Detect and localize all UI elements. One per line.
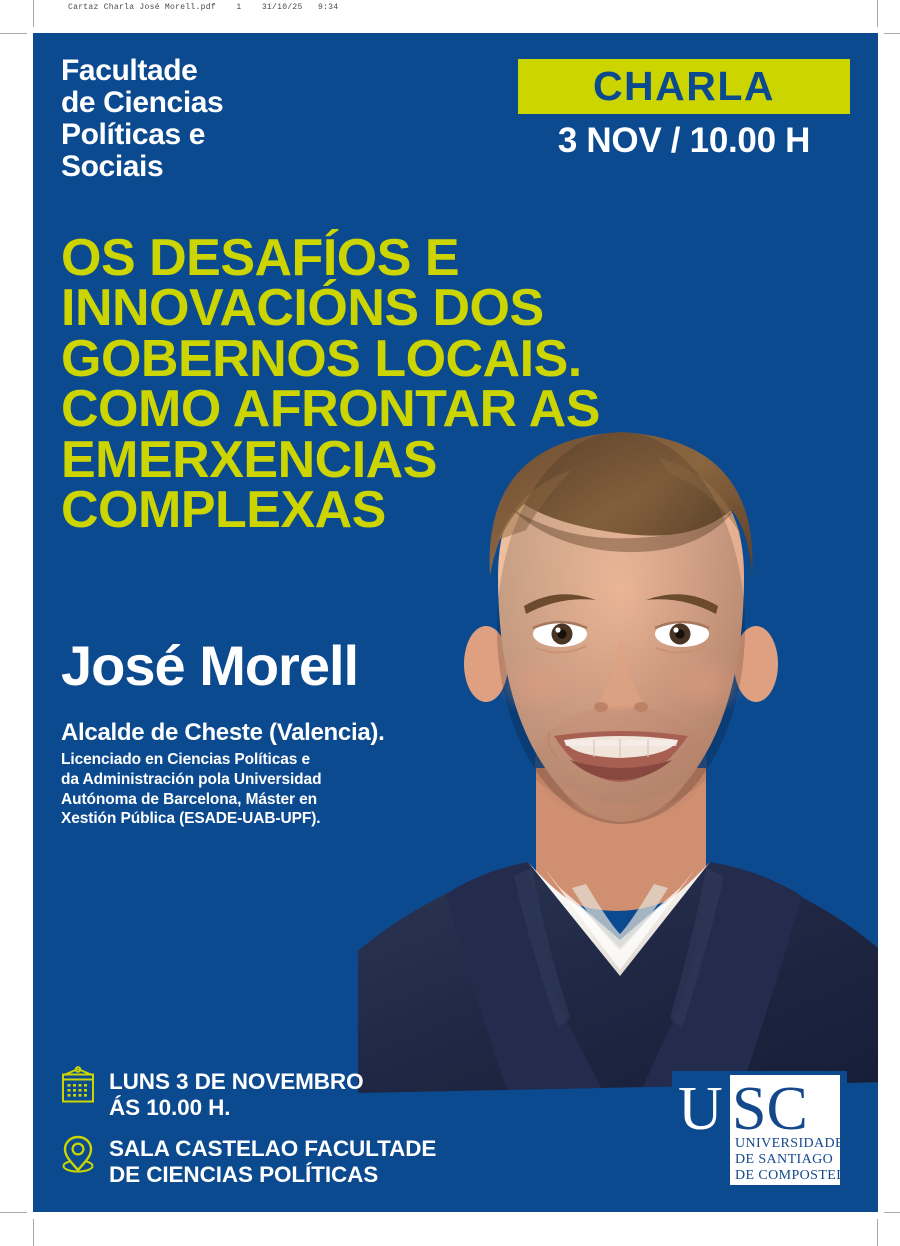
pdf-page: Cartaz Charla José Morell.pdf 1 31/10/25…: [0, 0, 900, 1246]
usc-logo: U SC UNIVERSIDADE DE SANTIAGO DE COMPOST…: [672, 1071, 847, 1189]
calendar-icon: [59, 1066, 97, 1108]
crop-mark-top-left-vertical: [33, 0, 34, 27]
pdf-filename-header: Cartaz Charla José Morell.pdf 1 31/10/25…: [68, 3, 338, 12]
charla-badge-label: CHARLA: [593, 63, 775, 110]
usc-wordmark-line1: UNIVERSIDADE: [735, 1136, 844, 1151]
event-place-block: SALA CASTELAO FACULTADE DE CIENCIAS POLÍ…: [59, 1133, 436, 1188]
poster-artboard: Facultade de Ciencias Políticas e Sociai…: [33, 33, 878, 1212]
usc-letter-sc: SC: [732, 1075, 808, 1143]
crop-mark-top-right-vertical: [877, 0, 878, 27]
charla-date: 3 NOV / 10.00 H: [518, 121, 850, 161]
crop-mark-bottom-left-horizontal: [0, 1212, 27, 1213]
usc-letter-u: U: [678, 1075, 723, 1143]
charla-badge: CHARLA: [518, 59, 850, 114]
crop-mark-bottom-right-horizontal: [884, 1212, 900, 1213]
speaker-role: Alcalde de Cheste (Valencia).: [61, 720, 384, 746]
map-pin-icon: [59, 1133, 97, 1175]
faculty-name: Facultade de Ciencias Políticas e Sociai…: [61, 55, 223, 183]
crop-mark-bottom-right-vertical: [877, 1219, 878, 1246]
usc-wordmark-line2: DE SANTIAGO: [735, 1152, 833, 1167]
speaker-name: José Morell: [61, 638, 358, 694]
crop-mark-bottom-left-vertical: [33, 1219, 34, 1246]
poster-headline: OS DESAFÍOS E INNOVACIÓNS DOS GOBERNOS L…: [61, 233, 821, 536]
event-place-text: SALA CASTELAO FACULTADE DE CIENCIAS POLÍ…: [109, 1133, 436, 1188]
crop-mark-top-left-horizontal: [0, 33, 27, 34]
usc-wordmark-line3: DE COMPOSTELA: [735, 1168, 847, 1183]
speaker-bio: Licenciado en Ciencias Políticas e da Ad…: [61, 750, 421, 829]
event-date-block: LUNS 3 DE NOVEMBRO ÁS 10.00 H.: [59, 1066, 363, 1121]
event-date-text: LUNS 3 DE NOVEMBRO ÁS 10.00 H.: [109, 1066, 363, 1121]
crop-mark-top-right-horizontal: [884, 33, 900, 34]
